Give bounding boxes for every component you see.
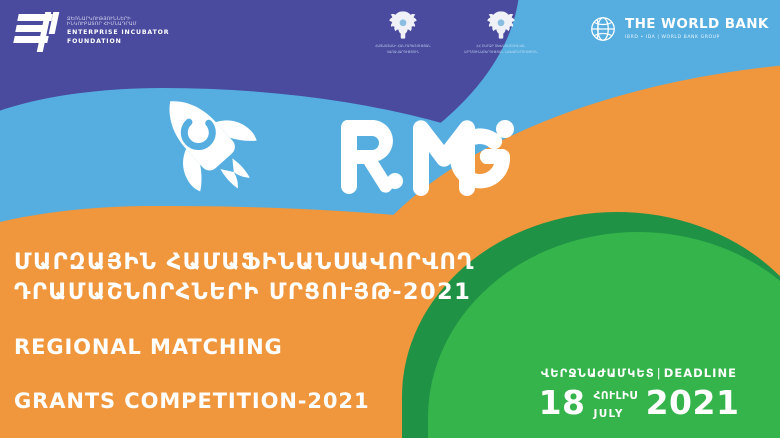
poster-banner: ՁԵՌՆԱՐԿՈՒԹՅՈՒՆՆԵՐԻ ԻՆԿՈՒԲԱՏՈՐ ՀԻՄՆԱԴՐԱՄ … bbox=[0, 0, 780, 438]
eif-monogram-icon bbox=[14, 12, 60, 52]
eif-english-line1: ENTERPRISE INCUBATOR bbox=[67, 30, 169, 37]
armenia-coat-of-arms-icon bbox=[455, 8, 547, 42]
logo-government-of-armenia[interactable]: ՀԱՅԱՍՏԱՆԻ ՀԱՆՐԱՊԵՏՈՒԹՅԱՆ ԿԱՌԱՎԱՐՈՒԹՅՈՒՆ bbox=[357, 8, 449, 54]
deadline-day: 18 bbox=[539, 386, 586, 419]
rmg-wordmark bbox=[338, 112, 528, 196]
deadline-label-english: DEADLINE bbox=[664, 366, 737, 380]
headline-armenian-line2: ԴՐԱՄԱՇՆՈՐՀՆԵՐԻ ՄՐՑՈՒՅԹ-2021 bbox=[14, 278, 475, 308]
gov2-caption-line2: ԱՐԴՅՈՒՆԱԲԵՐՈՒԹՅԱՆ ՆԱԽԱՐԱՐՈՒԹՅՈՒՆ bbox=[455, 50, 547, 54]
world-bank-title: THE WORLD BANK bbox=[625, 18, 769, 32]
gov1-caption-line2: ԿԱՌԱՎԱՐՈՒԹՅՈՒՆ bbox=[357, 50, 449, 54]
rocket-icon bbox=[142, 82, 268, 198]
headline-block: ՄԱՐԶԱՅԻՆ ՀԱՄԱՖԻՆԱՆՍԱՎՈՐՎՈՂ ԴՐԱՄԱՇՆՈՐՀՆԵՐ… bbox=[14, 248, 475, 415]
deadline-month: ՀՈՒԼԻՍ JULY bbox=[594, 385, 638, 421]
deadline-separator: | bbox=[655, 366, 664, 380]
armenia-coat-of-arms-icon bbox=[357, 8, 449, 42]
deadline-block: ՎԵՐՋՆԱԺԱՄԿԵՏ|DEADLINE 18 ՀՈՒԼԻՍ JULY 202… bbox=[505, 366, 773, 421]
logo-bar: ՁԵՌՆԱՐԿՈՒԹՅՈՒՆՆԵՐԻ ԻՆԿՈՒԲԱՏՈՐ ՀԻՄՆԱԴՐԱՄ … bbox=[0, 0, 780, 62]
gov2-caption-line1: ՀՀ ԲԱՐՁՐ ՏԵԽՆՈԼՈԳԻԱԿԱՆ bbox=[455, 44, 547, 48]
deadline-label-armenian: ՎԵՐՋՆԱԺԱՄԿԵՏ bbox=[541, 366, 655, 380]
deadline-month-english: JULY bbox=[594, 408, 624, 420]
headline-english-line2: GRANTS COMPETITION-2021 bbox=[14, 388, 475, 416]
deadline-year: 2021 bbox=[646, 386, 740, 419]
deadline-month-armenian: ՀՈՒԼԻՍ bbox=[594, 390, 638, 402]
eif-armenian-line2: ԻՆԿՈՒԲԱՏՈՐ ՀԻՄՆԱԴՐԱՄ bbox=[67, 23, 169, 28]
gov1-caption-line1: ՀԱՅԱՍՏԱՆԻ ՀԱՆՐԱՊԵՏՈՒԹՅԱՆ bbox=[357, 44, 449, 48]
eif-english-line2: FOUNDATION bbox=[67, 39, 169, 46]
headline-armenian-line1: ՄԱՐԶԱՅԻՆ ՀԱՄԱՖԻՆԱՆՍԱՎՈՐՎՈՂ bbox=[14, 248, 475, 278]
logo-eif[interactable]: ՁԵՌՆԱՐԿՈՒԹՅՈՒՆՆԵՐԻ ԻՆԿՈՒԲԱՏՈՐ ՀԻՄՆԱԴՐԱՄ … bbox=[14, 12, 169, 52]
world-bank-subtitle: IBRD • IDA | WORLD BANK GROUP bbox=[625, 35, 769, 40]
deadline-date-row: 18 ՀՈՒԼԻՍ JULY 2021 bbox=[505, 385, 773, 421]
world-bank-globe-icon bbox=[588, 14, 618, 44]
headline-english-line1: REGIONAL MATCHING bbox=[14, 334, 475, 362]
logo-world-bank[interactable]: THE WORLD BANK IBRD • IDA | WORLD BANK G… bbox=[588, 14, 769, 44]
logo-ministry-high-tech[interactable]: ՀՀ ԲԱՐՁՐ ՏԵԽՆՈԼՈԳԻԱԿԱՆ ԱՐԴՅՈՒՆԱԲԵՐՈՒԹՅԱՆ… bbox=[455, 8, 547, 54]
deadline-label-row: ՎԵՐՋՆԱԺԱՄԿԵՏ|DEADLINE bbox=[505, 366, 773, 380]
